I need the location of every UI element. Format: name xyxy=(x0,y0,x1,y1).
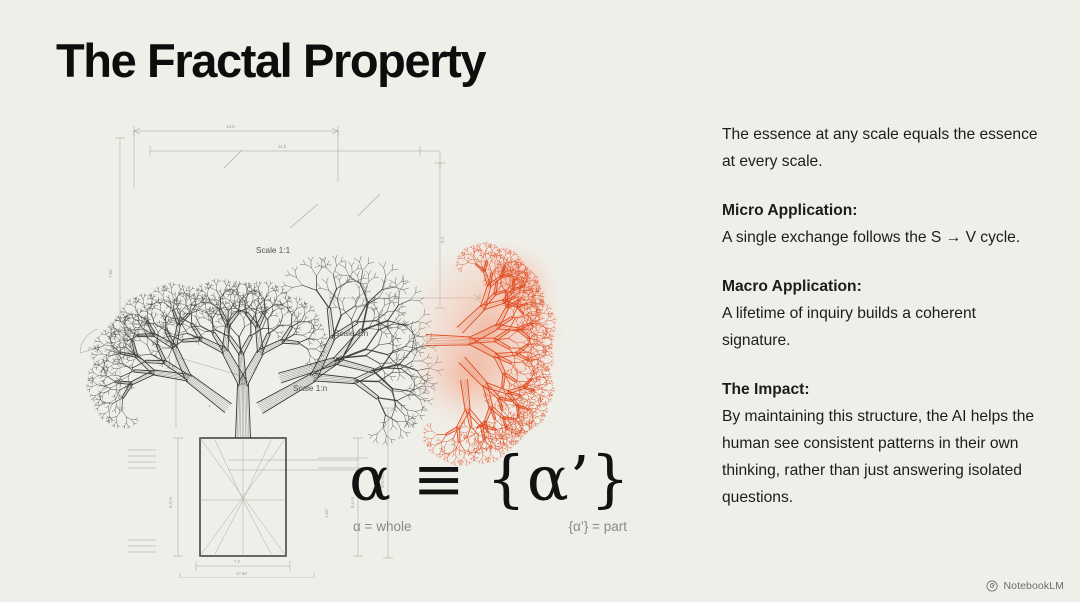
notebooklm-logo-text: NotebookLM xyxy=(1003,580,1064,592)
paragraph-heading: Micro Application: xyxy=(722,198,1042,225)
diagram-label-scale-1-1: Scale 1:1 xyxy=(256,246,291,255)
text-column: The essence at any scale equals the esse… xyxy=(722,122,1042,512)
paragraph-body: A lifetime of inquiry builds a coherent … xyxy=(722,301,1042,355)
fractal-tree-branches xyxy=(86,255,443,445)
paragraph-the-impact: The Impact: By maintaining this structur… xyxy=(722,377,1042,512)
diagram-label-scale-1-n-upper: Scale 1:n xyxy=(334,329,369,338)
formula-block: α ≡ {α’} α = whole {α’} = part xyxy=(335,448,645,534)
page-title: The Fractal Property xyxy=(56,36,485,85)
formula-expression: α ≡ {α’} xyxy=(335,448,645,510)
orange-fractal-glow xyxy=(408,238,566,434)
formula-captions: α = whole {α’} = part xyxy=(335,519,645,534)
trunk-outline xyxy=(200,438,286,556)
paragraph-heading: The Impact: xyxy=(722,377,1042,404)
notebooklm-logo: NotebookLM xyxy=(986,580,1064,592)
paragraph-macro-application: Macro Application: A lifetime of inquiry… xyxy=(722,274,1042,355)
paragraph-heading: Macro Application: xyxy=(722,274,1042,301)
paragraph-body: The essence at any scale equals the esse… xyxy=(722,122,1042,176)
paragraph-body: By maintaining this structure, the AI he… xyxy=(722,404,1042,512)
slide-canvas: The Fractal Property xyxy=(0,0,1080,602)
paragraph-micro-application: Micro Application: A single exchange fol… xyxy=(722,198,1042,252)
diagram-label-scale-1-n-lower: Scale 1:n xyxy=(293,384,328,393)
paragraph-essence: The essence at any scale equals the esse… xyxy=(722,122,1042,176)
notebooklm-spiral-icon xyxy=(986,580,998,592)
formula-caption-right: {α’} = part xyxy=(569,519,627,534)
formula-caption-left: α = whole xyxy=(353,519,411,534)
paragraph-body: A single exchange follows the S → V cycl… xyxy=(722,225,1042,252)
